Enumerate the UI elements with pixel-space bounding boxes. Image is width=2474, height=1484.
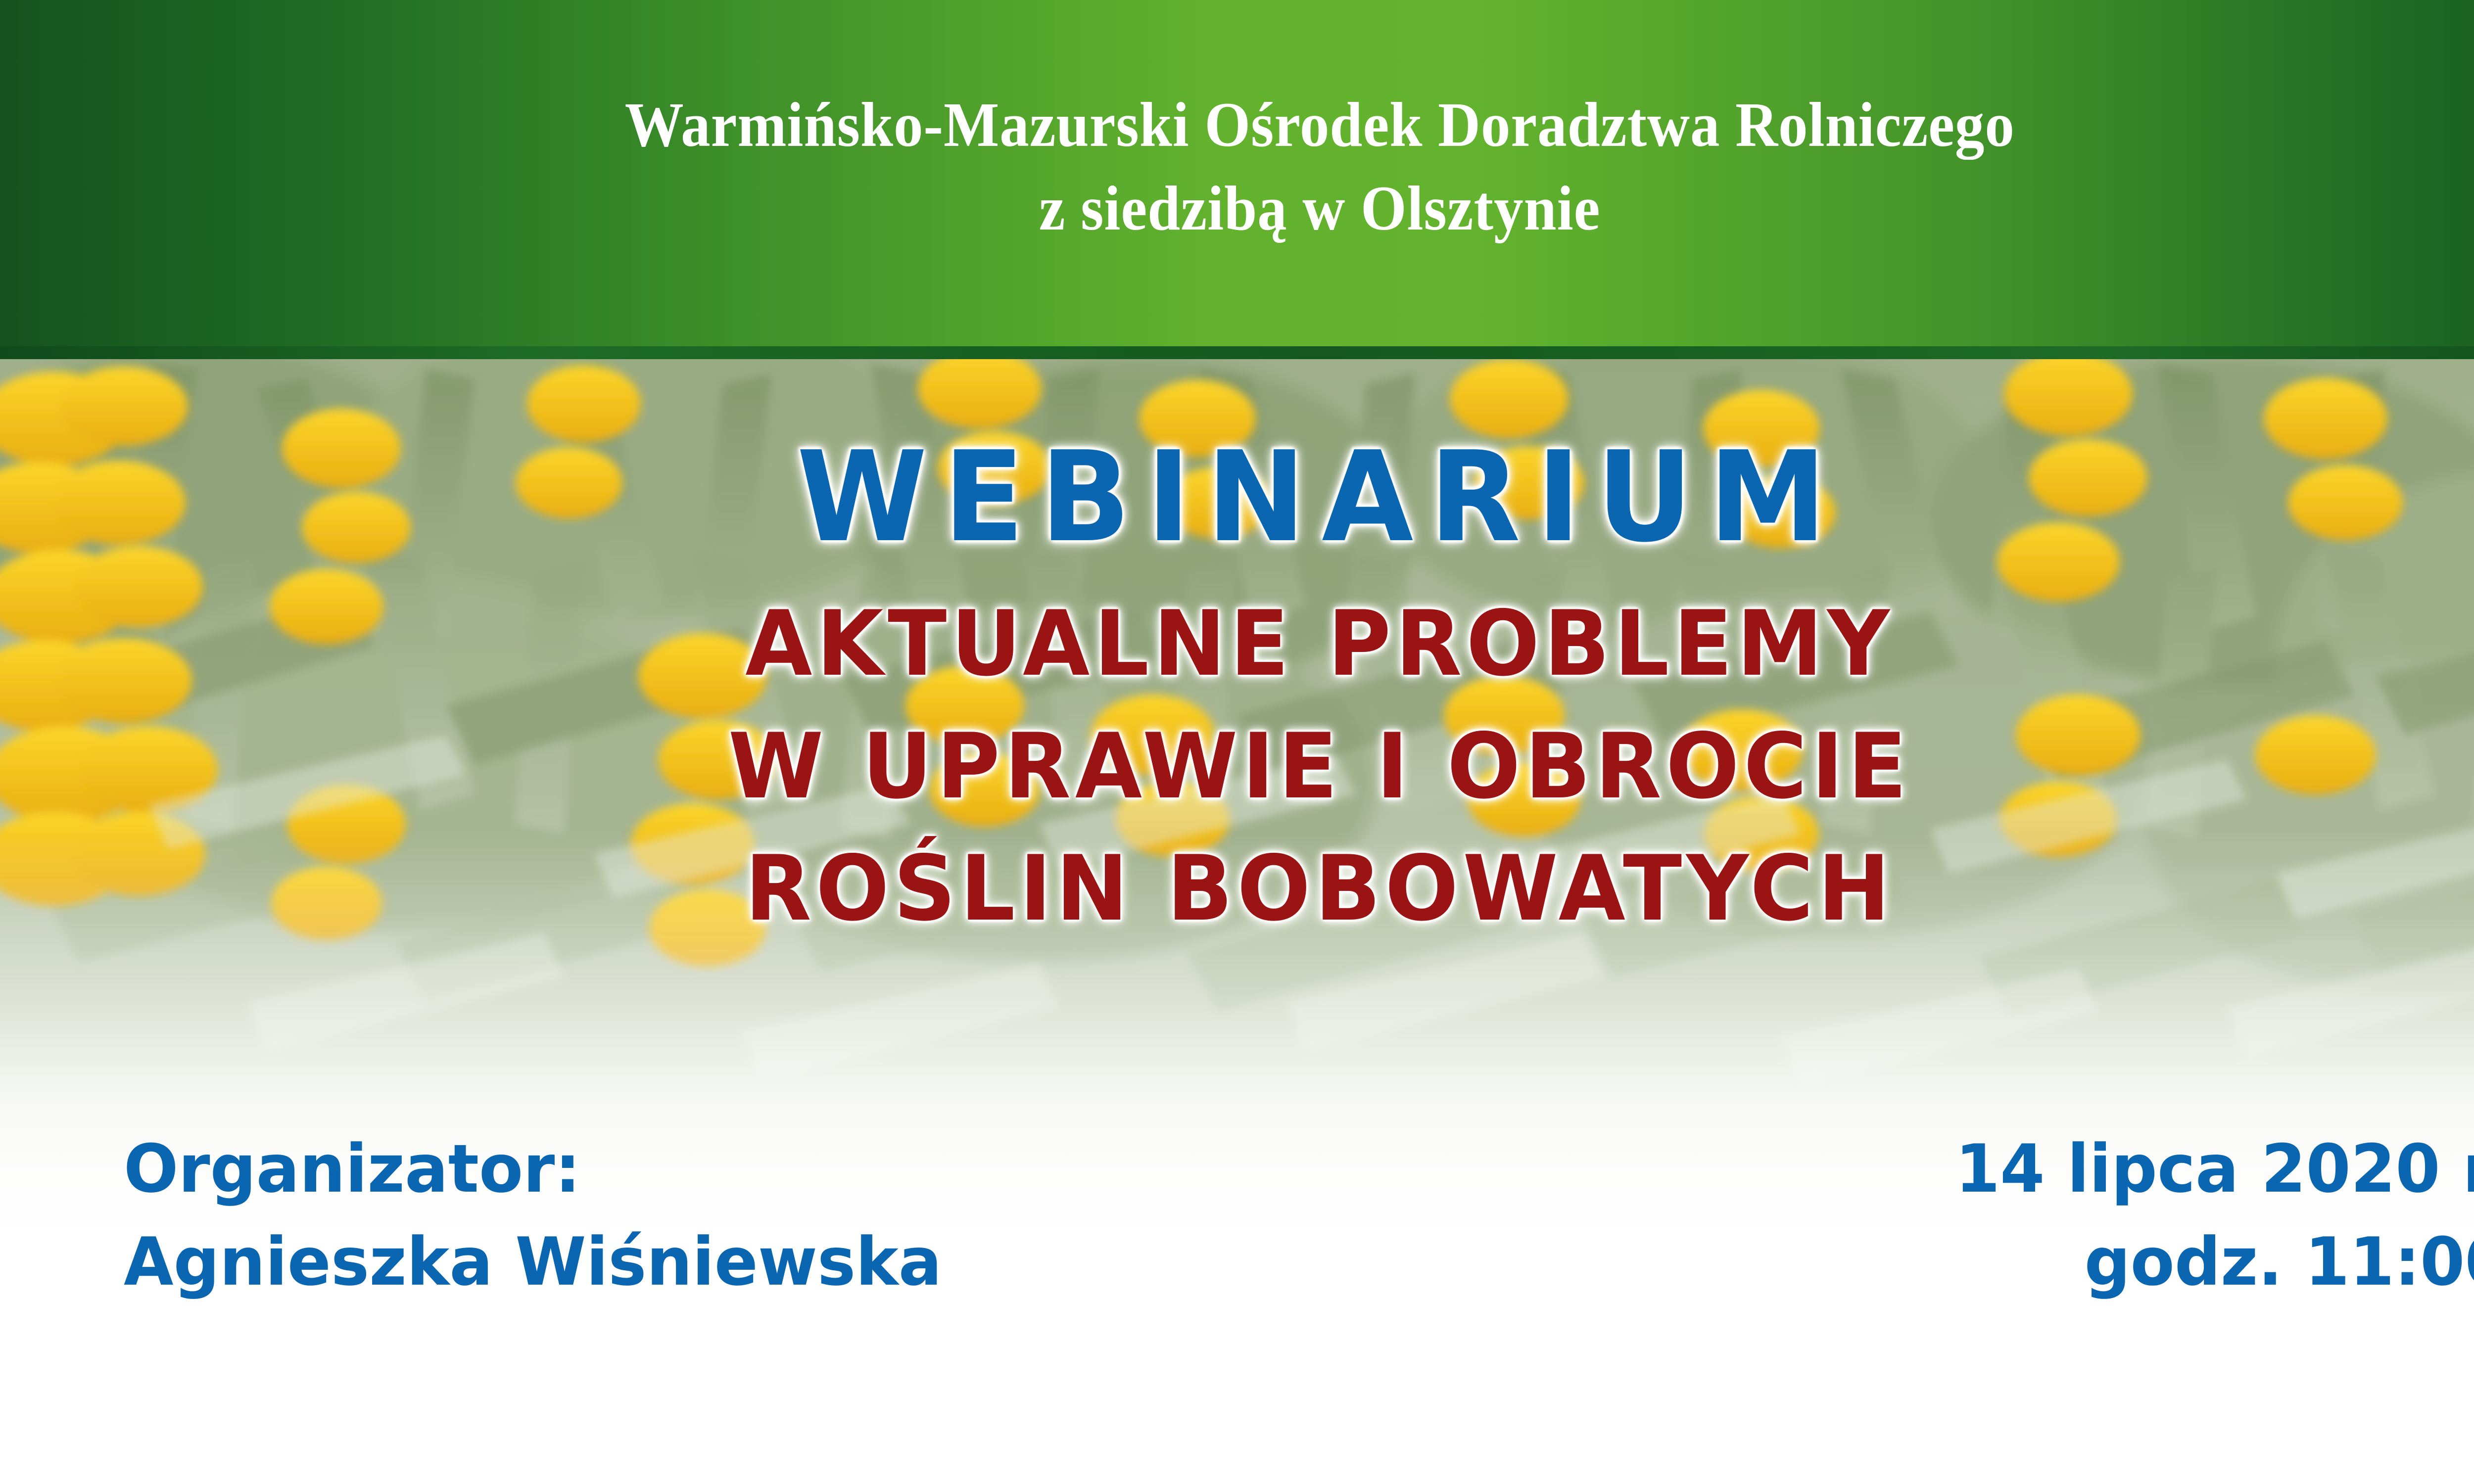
organization-name-line2: z siedzibą w Olsztynie — [1039, 167, 1601, 250]
footer: Organizator: Agnieszka Wiśniewska 14 lip… — [124, 1123, 2474, 1308]
webinar-title: WEBINARIUM — [66, 435, 2474, 560]
title-block: WEBINARIUM AKTUALNE PROBLEMY W UPRAWIE I… — [0, 435, 2474, 950]
event-date: 14 lipca 2020 r. — [1955, 1123, 2474, 1216]
webinar-subtitle-line2: W UPRAWIE I OBROCIE — [53, 705, 2474, 828]
datetime-block: 14 lipca 2020 r. godz. 11:00 — [1955, 1123, 2474, 1308]
organization-name-line1: Warmińsko-Mazurski Ośrodek Doradztwa Rol… — [624, 83, 2014, 167]
header-bottom-stripe — [0, 346, 2474, 359]
header-bar: Warmińsko-Mazurski Ośrodek Doradztwa Rol… — [0, 0, 2474, 346]
webinar-subtitle-line3: ROŚLIN BOBOWATYCH — [53, 828, 2474, 950]
organizer-label: Organizator: — [124, 1123, 942, 1216]
organizer-block: Organizator: Agnieszka Wiśniewska — [124, 1123, 942, 1308]
webinar-banner: Warmińsko-Mazurski Ośrodek Doradztwa Rol… — [0, 0, 2474, 1484]
webinar-subtitle-line1: AKTUALNE PROBLEMY — [53, 583, 2474, 705]
organizer-name: Agnieszka Wiśniewska — [124, 1216, 942, 1309]
event-time: godz. 11:00 — [1955, 1216, 2474, 1309]
